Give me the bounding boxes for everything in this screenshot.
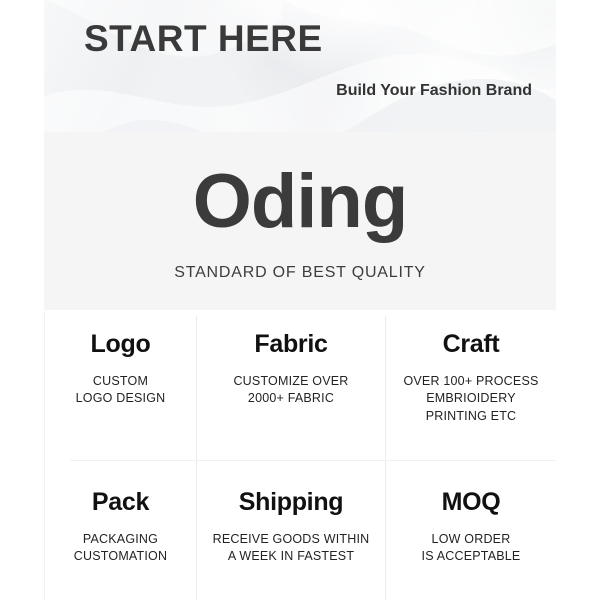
feature-description-line: RECEIVE GOODS WITHIN xyxy=(197,531,385,548)
grid-horizontal-divider xyxy=(70,460,556,461)
feature-title: Fabric xyxy=(197,332,385,357)
feature-description-line: IS ACCEPTABLE xyxy=(386,548,556,565)
feature-cell-shipping[interactable]: Shipping RECEIVE GOODS WITHIN A WEEK IN … xyxy=(197,490,385,566)
feature-description-line: LOW ORDER xyxy=(386,531,556,548)
banner-title: START HERE xyxy=(84,18,323,60)
feature-title: Craft xyxy=(386,332,556,357)
feature-cell-moq[interactable]: MOQ LOW ORDER IS ACCEPTABLE xyxy=(386,490,556,566)
banner-subtitle: Build Your Fashion Brand xyxy=(336,82,532,100)
brand-tagline: STANDARD OF BEST QUALITY xyxy=(44,264,556,282)
feature-title: Pack xyxy=(45,490,196,515)
feature-description-line: CUSTOM xyxy=(45,373,196,390)
feature-grid: Logo CUSTOM LOGO DESIGN Fabric CUSTOMIZE… xyxy=(0,310,600,600)
feature-cell-fabric[interactable]: Fabric CUSTOMIZE OVER 2000+ FABRIC xyxy=(197,332,385,408)
feature-description-line: EMBRIOIDERY xyxy=(386,390,556,407)
feature-description-line: CUSTOMATION xyxy=(45,548,196,565)
feature-description: LOW ORDER IS ACCEPTABLE xyxy=(386,531,556,566)
promo-banner-page: START HERE Build Your Fashion Brand Odin… xyxy=(0,0,600,600)
brand-logo-panel: Oding STANDARD OF BEST QUALITY xyxy=(44,132,556,310)
feature-cell-pack[interactable]: Pack PACKAGING CUSTOMATION xyxy=(45,490,196,566)
feature-title: Logo xyxy=(45,332,196,357)
brand-name: Oding xyxy=(44,164,556,240)
feature-cell-logo[interactable]: Logo CUSTOM LOGO DESIGN xyxy=(45,332,196,408)
hero-banner: START HERE Build Your Fashion Brand xyxy=(44,0,556,132)
feature-description-line: PACKAGING xyxy=(45,531,196,548)
feature-description-line: CUSTOMIZE OVER xyxy=(197,373,385,390)
feature-description-line: OVER 100+ PROCESS xyxy=(386,373,556,390)
feature-description: OVER 100+ PROCESS EMBRIOIDERY PRINTING E… xyxy=(386,373,556,425)
feature-description-line: A WEEK IN FASTEST xyxy=(197,548,385,565)
feature-description: PACKAGING CUSTOMATION xyxy=(45,531,196,566)
feature-description: RECEIVE GOODS WITHIN A WEEK IN FASTEST xyxy=(197,531,385,566)
feature-description-line: 2000+ FABRIC xyxy=(197,390,385,407)
feature-description: CUSTOMIZE OVER 2000+ FABRIC xyxy=(197,373,385,408)
feature-title: Shipping xyxy=(197,490,385,515)
feature-description: CUSTOM LOGO DESIGN xyxy=(45,373,196,408)
feature-description-line: PRINTING ETC xyxy=(386,408,556,425)
feature-description-line: LOGO DESIGN xyxy=(45,390,196,407)
feature-title: MOQ xyxy=(386,490,556,515)
feature-cell-craft[interactable]: Craft OVER 100+ PROCESS EMBRIOIDERY PRIN… xyxy=(386,332,556,425)
